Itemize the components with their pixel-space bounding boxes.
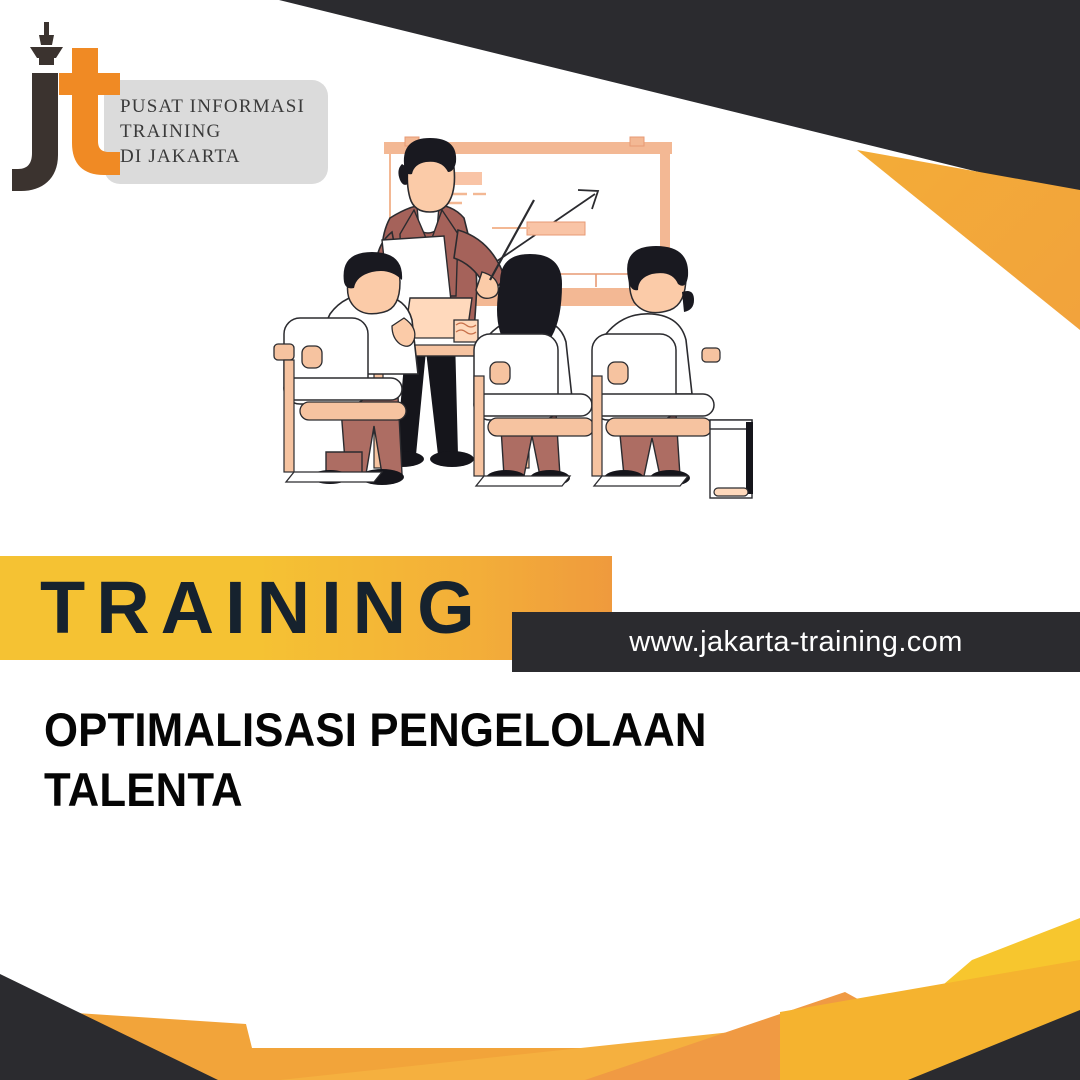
logo-jt-mark — [8, 18, 128, 208]
waste-bin — [710, 420, 753, 498]
training-banner-label: TRAINING — [40, 571, 486, 645]
bottom-right-yellow-wedge — [780, 960, 1080, 1080]
chair-middle — [474, 334, 594, 486]
chair-right — [592, 334, 720, 486]
bottom-right-yellow-triangle — [740, 900, 1080, 1080]
training-classroom-illustration: .ln{fill:none;stroke:#2B2B2F;stroke-widt… — [262, 122, 802, 532]
bottom-left-yellow-triangle — [0, 970, 320, 1080]
bottom-orange-wedge — [0, 984, 1080, 1080]
bottom-orange-triangle — [0, 970, 1080, 1080]
bottom-right-dark-triangle — [880, 1010, 1080, 1080]
course-title: OPTIMALISASI PENGELOLAAN TALENTA — [44, 700, 881, 819]
bottom-white-notch — [0, 990, 1080, 1080]
website-url-text: www.jakarta-training.com — [629, 626, 963, 659]
coffee-cup-icon — [454, 320, 478, 342]
website-url-strip[interactable]: www.jakarta-training.com — [512, 612, 1080, 672]
logo-tagline-line-1: PUSAT INFORMASI — [120, 94, 330, 119]
poster-canvas: PUSAT INFORMASI TRAINING DI JAKARTA .ln{… — [0, 0, 1080, 1080]
bottom-left-dark-triangle — [0, 930, 300, 1080]
monas-monument-icon — [30, 22, 63, 65]
bottom-orange-band — [0, 970, 1080, 1080]
